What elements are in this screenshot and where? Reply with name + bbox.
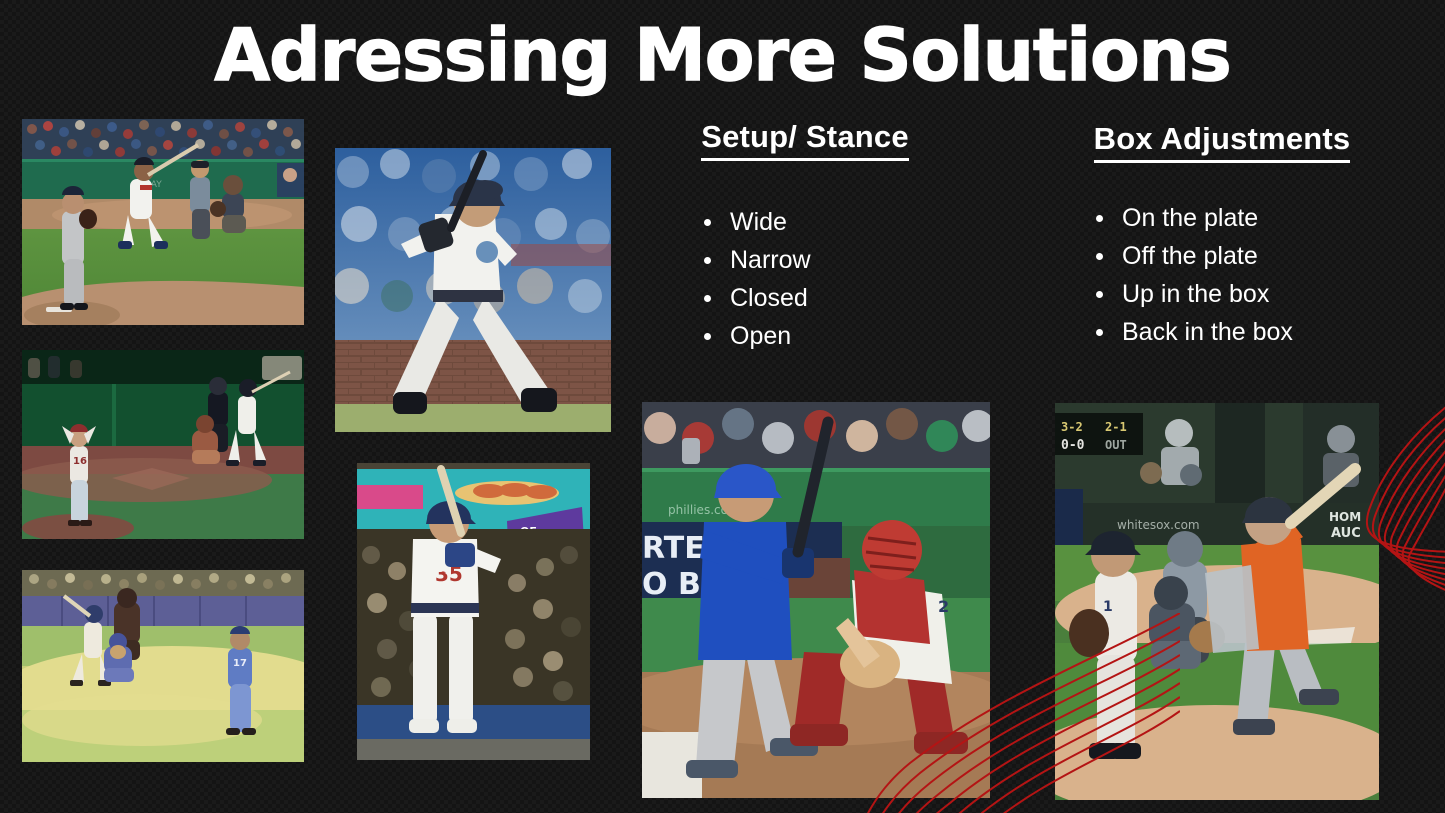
svg-text:2-1: 2-1 [1105,420,1127,434]
photo-dodgers-35-art: OF TE DAY DAY [357,463,590,760]
column-setup-stance: Setup/ Stance Wide Narrow Closed Open [640,118,970,355]
photo-wide-stance-brick [335,148,611,432]
photo-orange-batter-swing: 3-2 2-1 0-0 OUT whitesox.com HOM AUC [1055,403,1379,800]
list-item: Wide [702,203,970,241]
bullet-list-box-adjustments: On the plate Off the plate Up in the box… [1032,199,1412,351]
column-box-adjustments: Box Adjustments On the plate Off the pla… [1032,120,1412,351]
photo-blue-jersey-catcher: phillies.com RTER O BU [642,402,990,798]
list-item: On the plate [1094,199,1412,237]
list-item: Narrow [702,241,970,279]
photo-vintage-green-wall: 16 [22,350,304,539]
list-item: Off the plate [1094,237,1412,275]
photo-vintage-blue-wall: 17 [22,570,304,762]
photo-orange-batter-swing-art: 3-2 2-1 0-0 OUT whitesox.com HOM AUC [1055,403,1379,800]
svg-text:16: 16 [73,456,87,467]
svg-text:HOM: HOM [1329,510,1361,524]
photo-fenway-batter: DAY [22,119,304,325]
list-item: Open [702,317,970,355]
page-title: Adressing More Solutions [0,16,1445,94]
bullet-list-setup-stance: Wide Narrow Closed Open [640,203,970,355]
svg-text:0-0: 0-0 [1061,438,1085,453]
svg-text:OUT: OUT [1105,438,1127,452]
svg-text:2: 2 [938,597,949,616]
heading-box-adjustments: Box Adjustments [1094,120,1351,163]
photo-fenway-batter-art: DAY [22,119,304,325]
list-item: Closed [702,279,970,317]
photo-wide-stance-brick-art [335,148,611,432]
photo-vintage-green-wall-art: 16 [22,350,304,539]
photo-blue-jersey-catcher-art: phillies.com RTER O BU [642,402,990,798]
svg-text:AUC: AUC [1331,526,1361,541]
svg-text:17: 17 [233,658,247,669]
photo-dodgers-35: OF TE DAY DAY [357,463,590,760]
heading-setup-stance: Setup/ Stance [701,118,909,161]
slide-canvas: Adressing More Solutions [0,0,1445,813]
list-item: Back in the box [1094,313,1412,351]
list-item: Up in the box [1094,275,1412,313]
svg-text:1: 1 [1103,599,1113,615]
svg-text:whitesox.com: whitesox.com [1117,518,1200,532]
photo-vintage-blue-wall-art: 17 [22,570,304,762]
svg-text:3-2: 3-2 [1061,420,1083,434]
